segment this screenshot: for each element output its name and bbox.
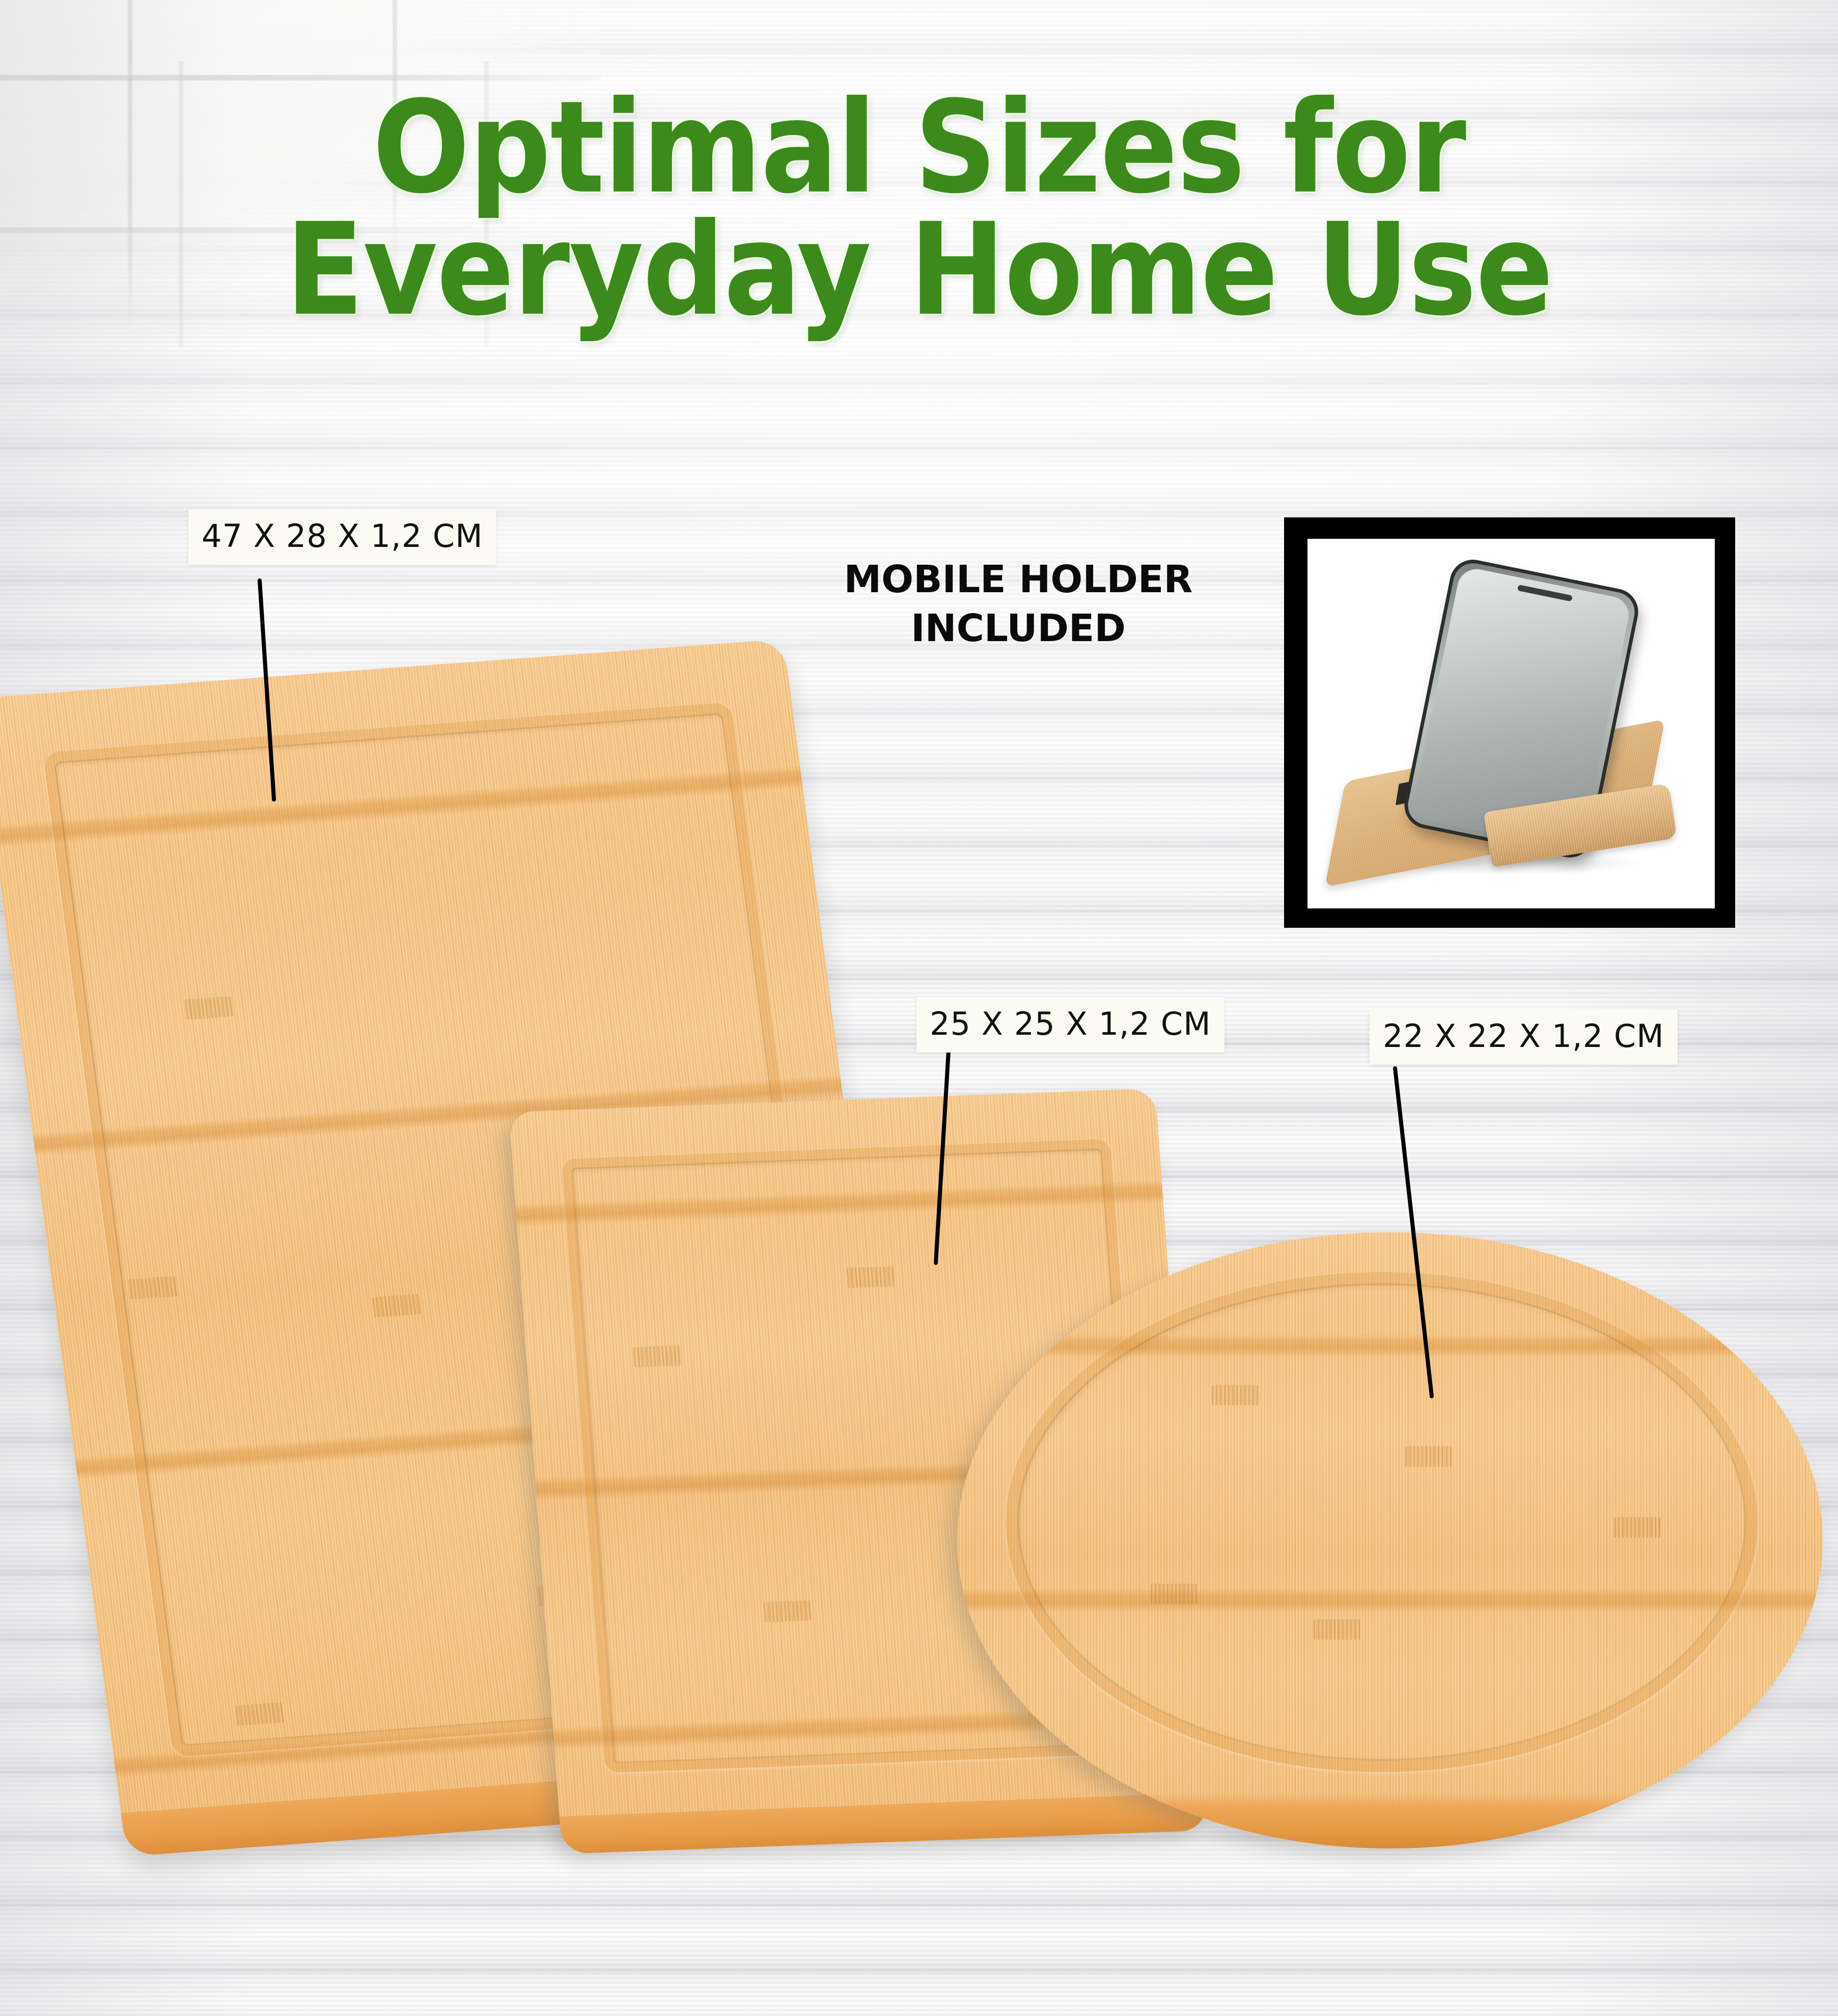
mobile-holder-photo <box>1307 539 1715 908</box>
cutting-board-round <box>957 1232 1823 1848</box>
phone-side-button <box>1421 676 1434 714</box>
dimension-label-round: 22 X 22 X 1,2 CM <box>1370 1009 1678 1065</box>
phone-side-button <box>1428 645 1440 683</box>
dimension-label-medium: 25 X 25 X 1,2 CM <box>916 997 1224 1053</box>
mobile-holder-inset-frame <box>1284 517 1735 928</box>
dimension-label-large: 47 X 28 X 1,2 CM <box>188 509 496 565</box>
product-infographic: Optimal Sizes for Everyday Home Use <box>0 0 1838 2016</box>
phone-side-button <box>1436 622 1445 644</box>
board-edge-round <box>957 1792 1823 1848</box>
juice-groove-round <box>1006 1272 1758 1772</box>
mobile-holder-caption: MOBILE HOLDER INCLUDED <box>774 555 1263 653</box>
